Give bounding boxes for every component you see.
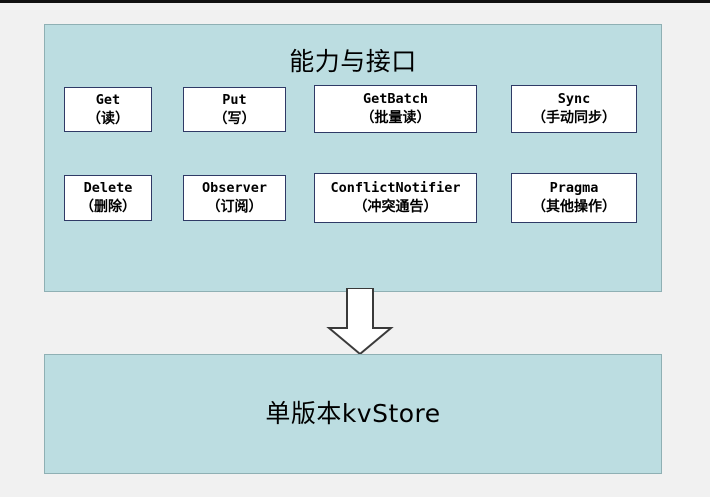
- api-box-pragma-description: （其他操作）: [532, 198, 616, 217]
- api-box-conflictnotifier-name: ConflictNotifier: [330, 179, 460, 198]
- api-box-sync[interactable]: Sync （手动同步）: [511, 85, 637, 133]
- kvstore-panel-title: 单版本kvStore: [265, 399, 440, 429]
- api-box-getbatch[interactable]: GetBatch （批量读）: [314, 85, 477, 133]
- api-box-get-description: （读）: [87, 110, 129, 129]
- api-box-pragma[interactable]: Pragma （其他操作）: [511, 173, 637, 223]
- api-box-delete-name: Delete: [84, 179, 133, 198]
- api-box-observer-name: Observer: [202, 179, 267, 198]
- api-box-get-name: Get: [96, 91, 120, 110]
- api-box-delete-description: （删除）: [80, 198, 136, 217]
- api-box-put[interactable]: Put （写）: [183, 87, 286, 132]
- kvstore-panel: 单版本kvStore: [44, 354, 662, 474]
- api-box-observer[interactable]: Observer （订阅）: [183, 175, 286, 221]
- api-box-getbatch-description: （批量读）: [361, 109, 431, 128]
- api-box-pragma-name: Pragma: [550, 179, 599, 198]
- top-edge-rule: [0, 0, 710, 3]
- api-box-conflictnotifier[interactable]: ConflictNotifier （冲突通告）: [314, 173, 477, 223]
- capabilities-panel: 能力与接口 Get （读） Put （写） GetBatch （批量读） Syn…: [44, 24, 662, 292]
- api-box-observer-description: （订阅）: [207, 198, 263, 217]
- api-box-get[interactable]: Get （读）: [64, 87, 152, 132]
- down-block-arrow-icon: [325, 288, 395, 356]
- capabilities-panel-title: 能力与接口: [45, 47, 661, 77]
- api-box-sync-description: （手动同步）: [532, 109, 616, 128]
- api-box-delete[interactable]: Delete （删除）: [64, 175, 152, 221]
- api-box-put-description: （写）: [214, 110, 256, 129]
- api-box-sync-name: Sync: [558, 90, 591, 109]
- api-box-getbatch-name: GetBatch: [363, 90, 428, 109]
- api-box-put-name: Put: [222, 91, 246, 110]
- api-box-conflictnotifier-description: （冲突通告）: [354, 198, 438, 217]
